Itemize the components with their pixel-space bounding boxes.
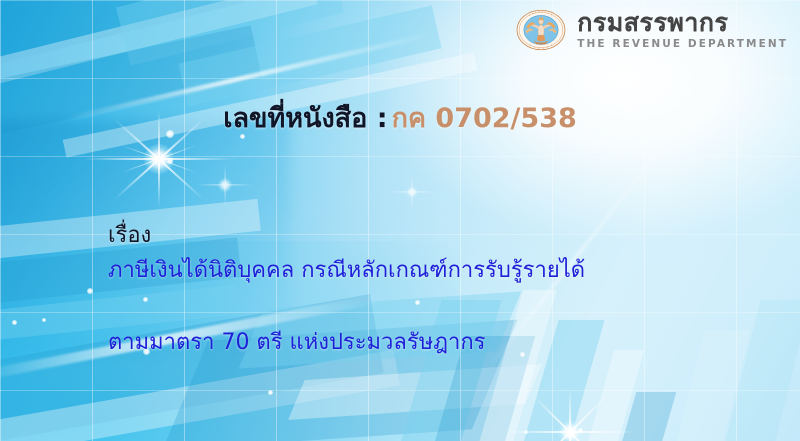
presentation-slide: กรมสรรพากร THE REVENUE DEPARTMENT เลขที่… (0, 0, 800, 441)
background-bokeh-dot (12, 320, 17, 325)
background-bokeh-dot (578, 428, 583, 433)
background-bokeh-dot (268, 390, 273, 395)
document-number-value: กค 0702/538 (392, 103, 577, 134)
revenue-department-logo: กรมสรรพากร THE REVENUE DEPARTMENT (515, 4, 788, 56)
background-bokeh-dot (42, 318, 46, 322)
document-subject-block: เรื่อง ภาษีเงินได้นิติบุคคล กรณีหลักเกณฑ… (108, 182, 708, 360)
subject-line-2: ตามมาตรา 70 ตรี แห่งประมวลรัษฎากร (108, 330, 485, 355)
subject-label: เรื่อง (108, 223, 151, 248)
background-bokeh-dot (167, 158, 173, 164)
background-bokeh-dot (524, 430, 528, 434)
logo-english-name: THE REVENUE DEPARTMENT (577, 39, 788, 50)
document-number-label: เลขที่หนังสือ : (223, 103, 387, 134)
logo-text-block: กรมสรรพากร THE REVENUE DEPARTMENT (577, 10, 788, 50)
background-bokeh-dot (87, 288, 93, 294)
document-number-heading: เลขที่หนังสือ :กค 0702/538 (0, 96, 800, 139)
revenue-department-seal-icon (515, 4, 567, 56)
subject-line-1: ภาษีเงินได้นิติบุคคล กรณีหลักเกณฑ์การรับ… (108, 258, 585, 283)
logo-thai-name: กรมสรรพากร (577, 10, 728, 35)
